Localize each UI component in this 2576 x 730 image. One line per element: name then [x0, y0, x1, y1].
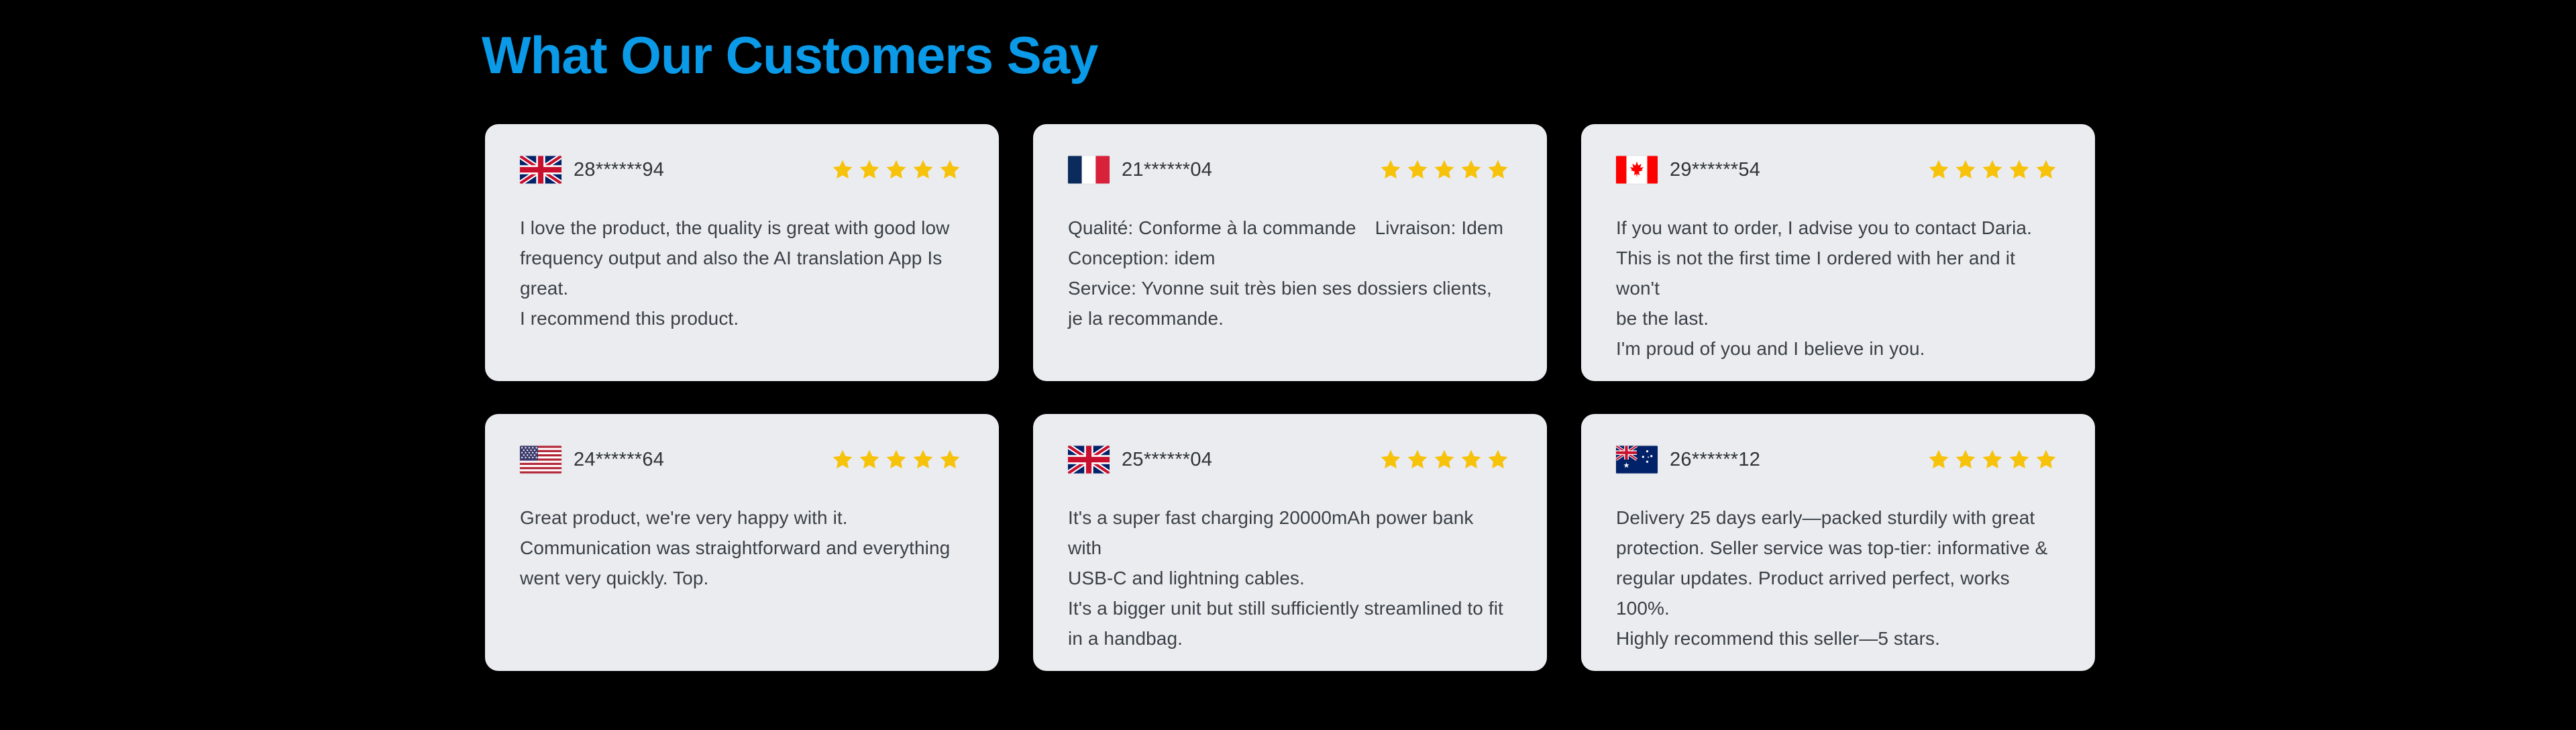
star-icon	[2008, 448, 2031, 471]
star-icon	[1954, 158, 1977, 181]
review-card: 24******64Great product, we're very happ…	[485, 414, 999, 671]
review-card-header: 28******94	[485, 124, 999, 182]
review-card-header: 29******54	[1581, 124, 2095, 182]
flag-us-icon	[520, 446, 561, 474]
flag-gb-icon	[1068, 446, 1110, 474]
review-line: Conception: idem	[1068, 243, 1512, 273]
review-card-header: 21******04	[1033, 124, 1547, 182]
reviewer: 21******04	[1068, 156, 1212, 184]
review-line: If you want to order, I advise you to co…	[1616, 213, 2060, 243]
reviews-grid: 28******94I love the product, the qualit…	[485, 124, 2095, 671]
star-icon	[1460, 158, 1483, 181]
star-icon	[1433, 158, 1456, 181]
review-line: I'm proud of you and I believe in you.	[1616, 333, 2060, 364]
star-icon	[938, 448, 961, 471]
rating-stars	[1379, 448, 1509, 471]
star-icon	[885, 448, 908, 471]
reviewer-id: 29******54	[1670, 159, 1760, 180]
review-card: 29******54If you want to order, I advise…	[1581, 124, 2095, 381]
review-line: Delivery 25 days early—packed sturdily w…	[1616, 503, 2060, 533]
reviewer-id: 25******04	[1122, 449, 1212, 470]
reviewer: 28******94	[520, 156, 664, 184]
star-icon	[831, 158, 854, 181]
star-icon	[1487, 448, 1509, 471]
review-line: great.	[520, 273, 964, 303]
star-icon	[858, 158, 881, 181]
review-line: protection. Seller service was top-tier:…	[1616, 533, 2060, 563]
star-icon	[1406, 448, 1429, 471]
review-line: Communication was straightforward and ev…	[520, 533, 964, 563]
star-icon	[885, 158, 908, 181]
rating-stars	[831, 158, 961, 181]
review-card: 26******12Delivery 25 days early—packed …	[1581, 414, 2095, 671]
review-card: 28******94I love the product, the qualit…	[485, 124, 999, 381]
star-icon	[912, 158, 934, 181]
star-icon	[1433, 448, 1456, 471]
star-icon	[1487, 158, 1509, 181]
review-text: I love the product, the quality is great…	[485, 182, 999, 333]
review-line: This is not the first time I ordered wit…	[1616, 243, 2060, 303]
review-line: went very quickly. Top.	[520, 563, 964, 593]
star-icon	[1460, 448, 1483, 471]
review-line: in a handbag.	[1068, 623, 1512, 654]
reviewer-id: 21******04	[1122, 159, 1212, 180]
page-title: What Our Customers Say	[482, 27, 1098, 83]
review-line: be the last.	[1616, 303, 2060, 333]
review-line: It's a bigger unit but still sufficientl…	[1068, 593, 1512, 623]
review-text: Great product, we're very happy with it.…	[485, 472, 999, 593]
reviewer-id: 26******12	[1670, 449, 1760, 470]
star-icon	[1927, 448, 1950, 471]
flag-ca-icon	[1616, 156, 1658, 184]
review-card: 25******04It's a super fast charging 200…	[1033, 414, 1547, 671]
star-icon	[831, 448, 854, 471]
star-icon	[1981, 448, 2004, 471]
review-text: If you want to order, I advise you to co…	[1581, 182, 2095, 364]
review-text: It's a super fast charging 20000mAh powe…	[1033, 472, 1547, 654]
star-icon	[2008, 158, 2031, 181]
star-icon	[2035, 448, 2057, 471]
rating-stars	[831, 448, 961, 471]
review-text: Qualité: Conforme à la commande Livraiso…	[1033, 182, 1547, 333]
star-icon	[1406, 158, 1429, 181]
reviewer: 26******12	[1616, 446, 1760, 474]
star-icon	[1954, 448, 1977, 471]
review-card-header: 26******12	[1581, 414, 2095, 472]
review-line: USB-C and lightning cables.	[1068, 563, 1512, 593]
review-card-header: 25******04	[1033, 414, 1547, 472]
review-line: Highly recommend this seller—5 stars.	[1616, 623, 2060, 654]
review-line: regular updates. Product arrived perfect…	[1616, 563, 2060, 623]
star-icon	[1379, 448, 1402, 471]
review-card-header: 24******64	[485, 414, 999, 472]
review-line: I recommend this product.	[520, 303, 964, 333]
review-line: It's a super fast charging 20000mAh powe…	[1068, 503, 1512, 563]
review-text: Delivery 25 days early—packed sturdily w…	[1581, 472, 2095, 654]
reviewer: 24******64	[520, 446, 664, 474]
reviewer-id: 28******94	[574, 159, 664, 180]
testimonials-page: What Our Customers Say 28******94I love …	[0, 0, 2576, 730]
star-icon	[912, 448, 934, 471]
star-icon	[858, 448, 881, 471]
review-line: Great product, we're very happy with it.	[520, 503, 964, 533]
review-line: frequency output and also the AI transla…	[520, 243, 964, 273]
flag-gb-icon	[520, 156, 561, 184]
flag-au-icon	[1616, 446, 1658, 474]
review-line: Qualité: Conforme à la commande Livraiso…	[1068, 213, 1512, 243]
reviewer-id: 24******64	[574, 449, 664, 470]
star-icon	[1379, 158, 1402, 181]
star-icon	[1981, 158, 2004, 181]
review-line: I love the product, the quality is great…	[520, 213, 964, 243]
reviewer: 25******04	[1068, 446, 1212, 474]
star-icon	[938, 158, 961, 181]
review-card: 21******04Qualité: Conforme à la command…	[1033, 124, 1547, 381]
reviewer: 29******54	[1616, 156, 1760, 184]
review-line: Service: Yvonne suit très bien ses dossi…	[1068, 273, 1512, 303]
rating-stars	[1927, 448, 2057, 471]
rating-stars	[1927, 158, 2057, 181]
star-icon	[2035, 158, 2057, 181]
star-icon	[1927, 158, 1950, 181]
rating-stars	[1379, 158, 1509, 181]
flag-fr-icon	[1068, 156, 1110, 184]
review-line: je la recommande.	[1068, 303, 1512, 333]
